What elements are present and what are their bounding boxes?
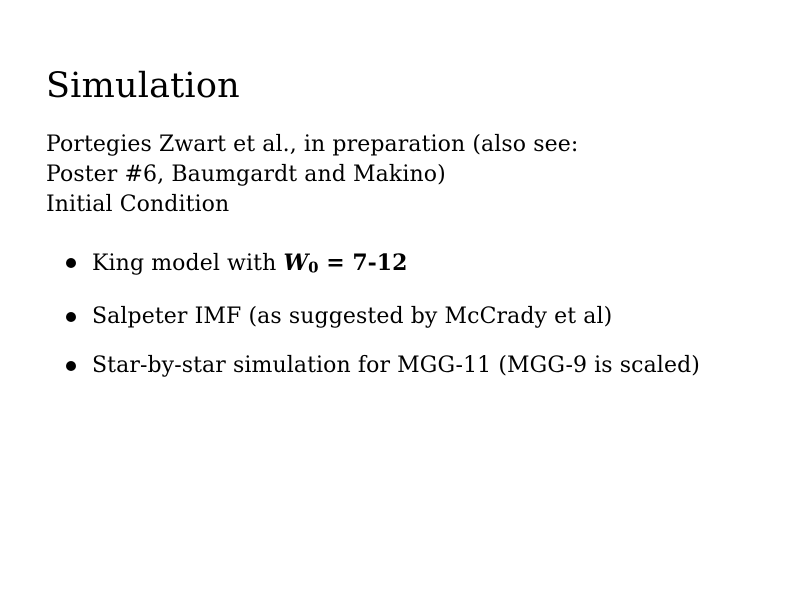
bullet-1-prefix: King model with (92, 251, 283, 276)
bullet-dot-icon (66, 361, 76, 371)
math-variable-subscript: 0 (308, 259, 318, 277)
intro-line-1: Portegies Zwart et al., in preparation (… (46, 130, 746, 160)
intro-line-2: Poster #6, Baumgardt and Makino) (46, 160, 746, 190)
math-relation: = (319, 250, 353, 276)
math-value: 7-12 (352, 250, 407, 276)
bullet-text-1: King model with W0 = 7-12 (92, 251, 407, 276)
math-variable-w0: W0 (283, 250, 318, 276)
intro-paragraph: Portegies Zwart et al., in preparation (… (46, 130, 746, 220)
list-item: King model with W0 = 7-12 (66, 248, 746, 283)
list-item: Salpeter IMF (as suggested by McCrady et… (66, 302, 746, 332)
bullet-dot-icon (66, 312, 76, 322)
presentation-slide: Simulation Portegies Zwart et al., in pr… (0, 0, 800, 600)
intro-line-3: Initial Condition (46, 190, 746, 220)
bullet-text-2: Salpeter IMF (as suggested by McCrady et… (92, 304, 612, 329)
math-variable-symbol: W (283, 250, 308, 276)
page-title: Simulation (46, 66, 240, 106)
bullet-list: King model with W0 = 7-12 Salpeter IMF (… (66, 248, 746, 381)
bullet-dot-icon (66, 258, 76, 268)
bullet-text-3: Star-by-star simulation for MGG-11 (MGG-… (92, 353, 700, 378)
list-item: Star-by-star simulation for MGG-11 (MGG-… (66, 351, 746, 381)
